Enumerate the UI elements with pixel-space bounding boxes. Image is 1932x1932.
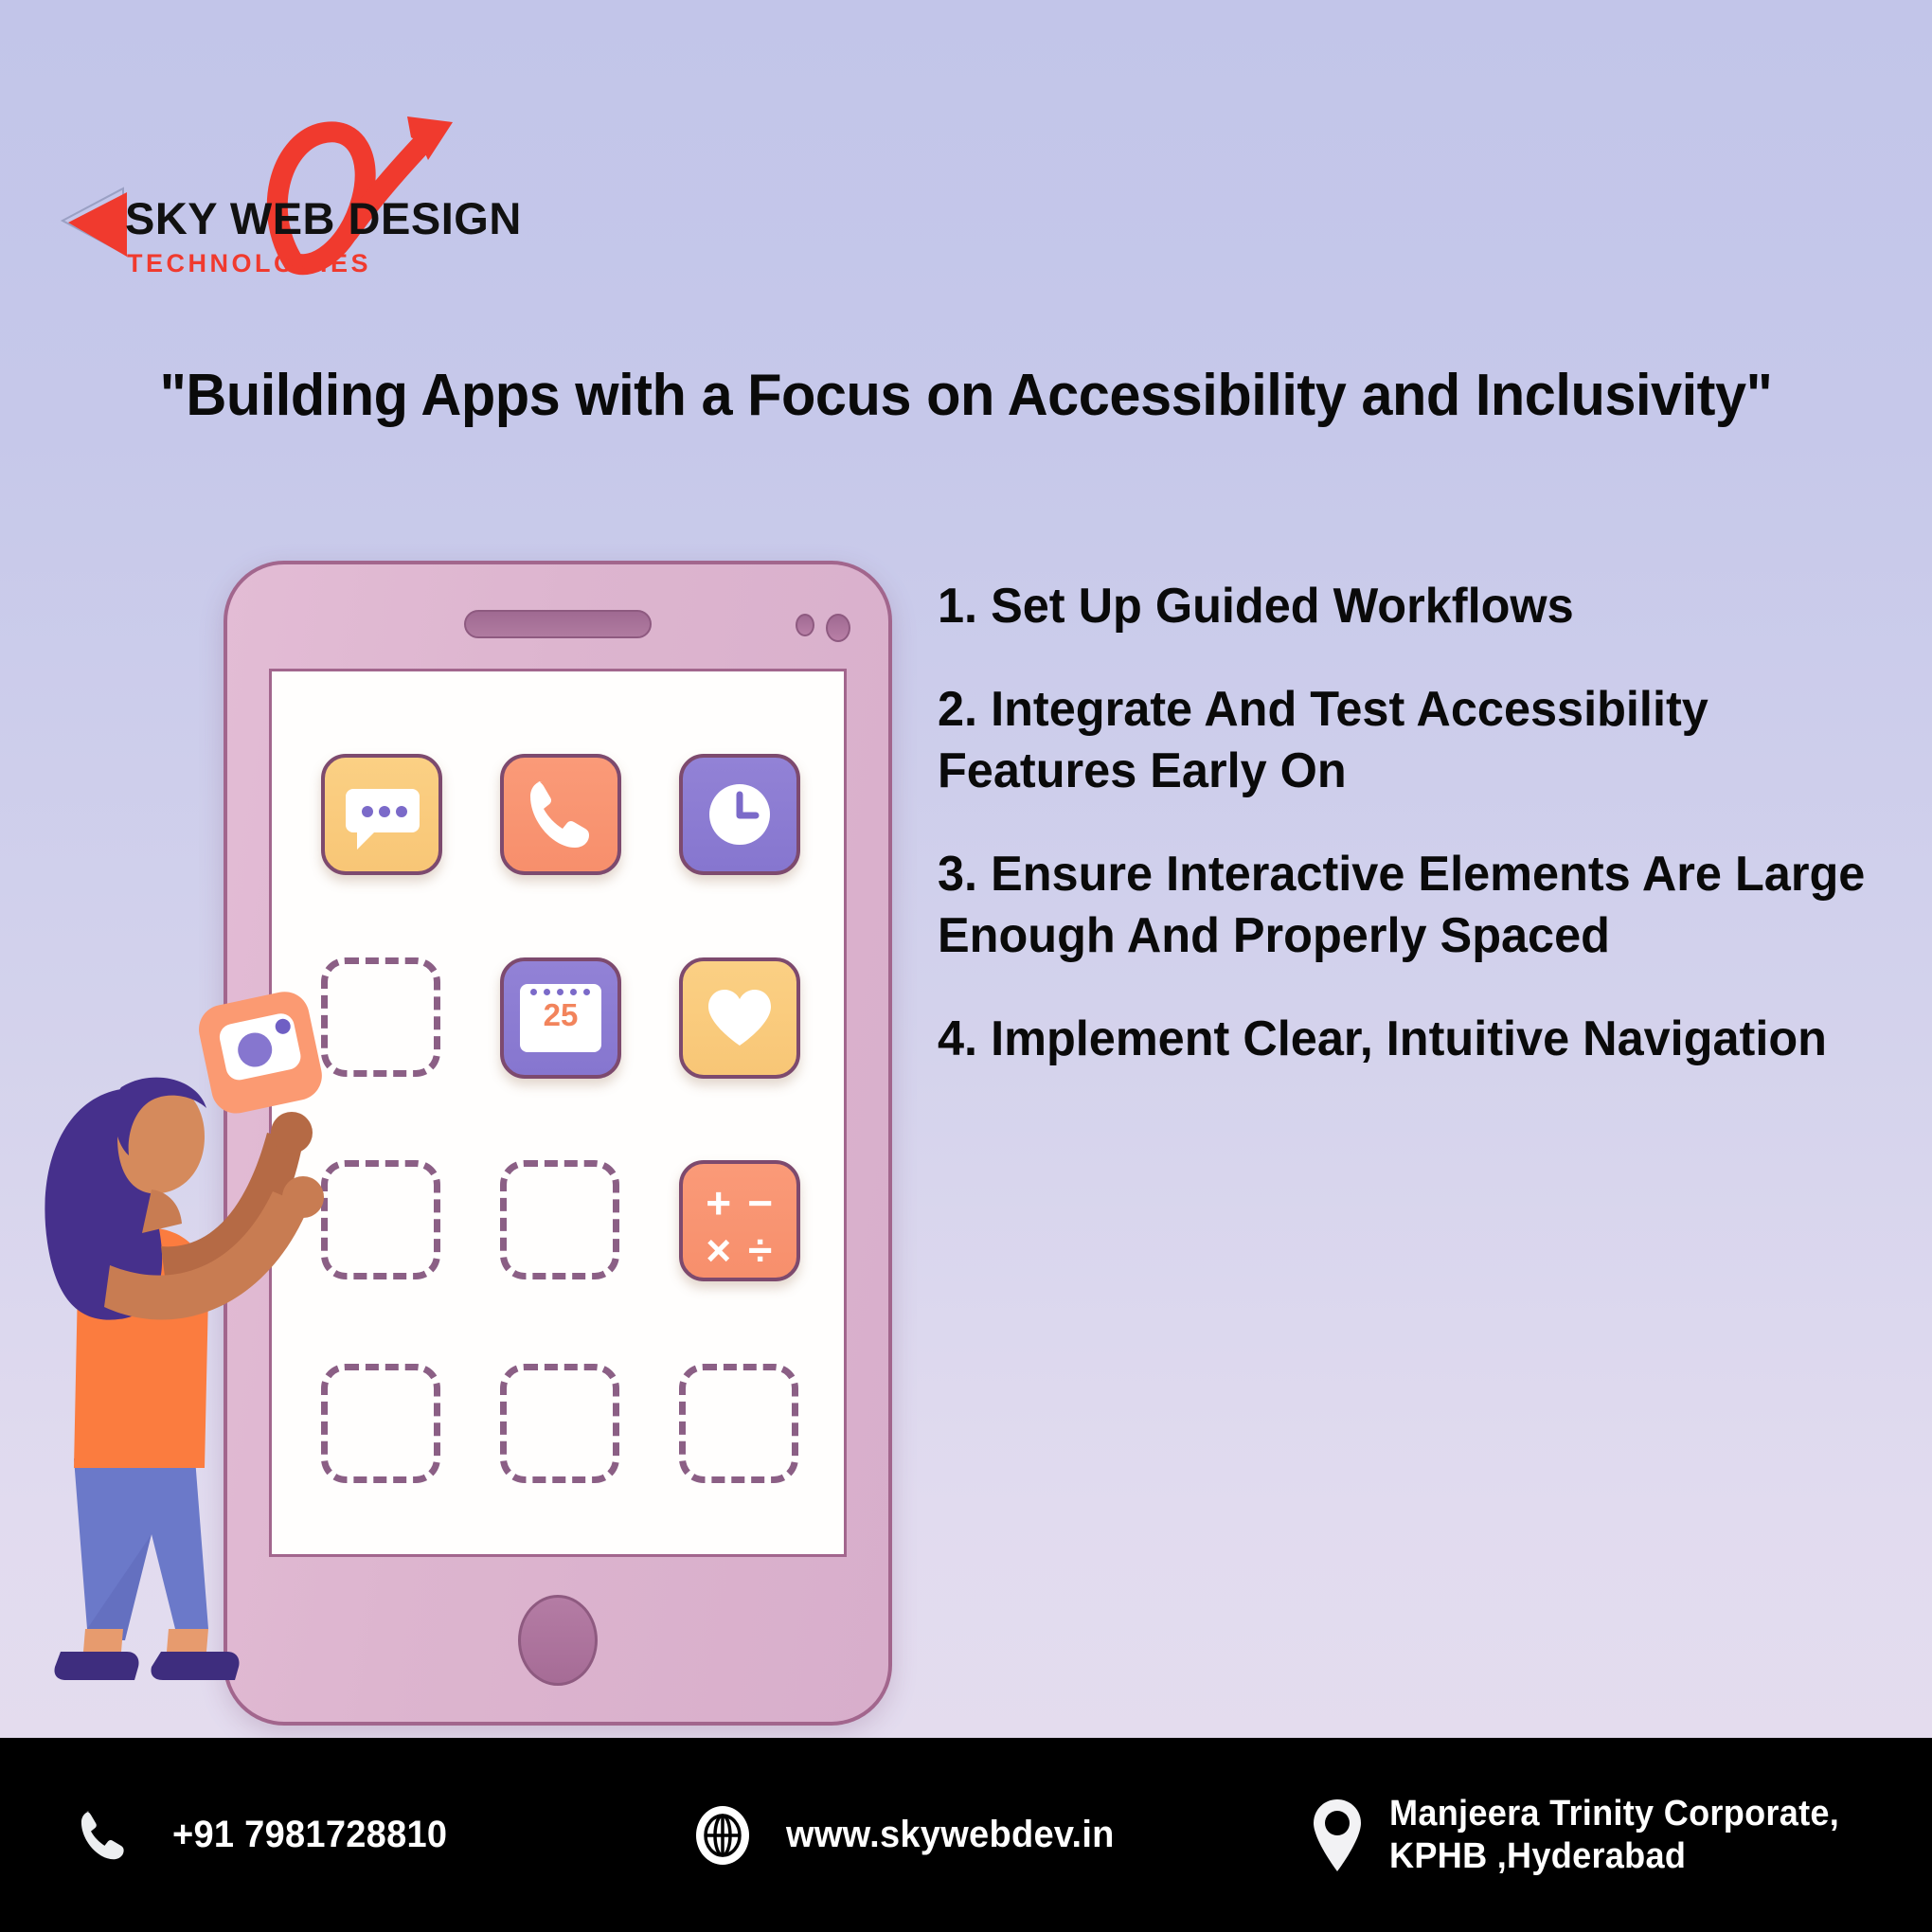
app-slot[interactable]	[679, 957, 800, 1079]
footer-website-url: www.skywebdev.in	[786, 1814, 1115, 1856]
footer-website[interactable]: www.skywebdev.in	[691, 1804, 1132, 1867]
empty-slot[interactable]	[500, 1160, 619, 1279]
footer-phone-number: +91 7981728810	[172, 1814, 447, 1856]
footer-phone[interactable]: +91 7981728810	[74, 1806, 462, 1865]
contact-footer: +91 7981728810 www.skywebdev.in Manjeera…	[0, 1738, 1932, 1932]
list-item: 3. Ensure Interactive Elements Are Large…	[938, 844, 1866, 967]
clock-icon[interactable]	[679, 754, 800, 875]
phone-camera-icon	[826, 614, 850, 642]
home-button[interactable]	[518, 1595, 598, 1686]
page-title: "Building Apps with a Focus on Accessibi…	[39, 362, 1893, 429]
heart-icon[interactable]	[679, 957, 800, 1079]
calc-plus-icon: +	[706, 1181, 731, 1225]
list-item: 4. Implement Clear, Intuitive Navigation	[938, 1009, 1866, 1070]
calc-minus-icon: −	[747, 1181, 773, 1225]
phone-icon	[74, 1806, 133, 1865]
logo-name-secondary: TECHNOLOGIES	[127, 249, 371, 277]
tips-list: 1. Set Up Guided Workflows 2. Integrate …	[938, 576, 1894, 1112]
globe-icon	[691, 1804, 754, 1867]
footer-address[interactable]: Manjeera Trinity Corporate, KPHB ,Hydera…	[1310, 1793, 1863, 1878]
chat-icon[interactable]	[321, 754, 442, 875]
company-logo: SKY WEB DESIGN TECHNOLOGIES	[36, 90, 566, 294]
app-slot[interactable]	[321, 754, 442, 875]
app-slot[interactable]	[500, 754, 621, 875]
empty-slot[interactable]	[500, 1364, 619, 1483]
calendar-rings-icon	[530, 989, 590, 995]
phone-icon[interactable]	[500, 754, 621, 875]
calculator-icon[interactable]: + − × ÷	[679, 1160, 800, 1281]
phone-sensor-icon	[796, 614, 814, 636]
empty-slot[interactable]	[679, 1364, 798, 1483]
list-item: 2. Integrate And Test Accessibility Feat…	[938, 679, 1866, 802]
location-pin-icon	[1310, 1798, 1365, 1873]
calc-times-icon: ×	[706, 1228, 731, 1272]
logo-name-primary: SKY WEB DESIGN	[125, 193, 522, 243]
calendar-day: 25	[544, 999, 579, 1030]
calc-divide-icon: ÷	[748, 1228, 772, 1272]
phone-speaker-icon	[464, 610, 652, 638]
footer-address-text: Manjeera Trinity Corporate, KPHB ,Hydera…	[1389, 1793, 1839, 1878]
app-slot[interactable]	[679, 754, 800, 875]
list-item: 1. Set Up Guided Workflows	[938, 576, 1866, 637]
app-slot-empty[interactable]	[679, 1364, 800, 1485]
app-slot-empty[interactable]	[500, 1160, 621, 1281]
app-slot[interactable]: + − × ÷	[679, 1160, 800, 1281]
calendar-icon[interactable]: 25	[500, 957, 621, 1079]
app-slot[interactable]: 25	[500, 957, 621, 1079]
app-slot-empty[interactable]	[500, 1364, 621, 1485]
person-illustration	[19, 966, 417, 1738]
